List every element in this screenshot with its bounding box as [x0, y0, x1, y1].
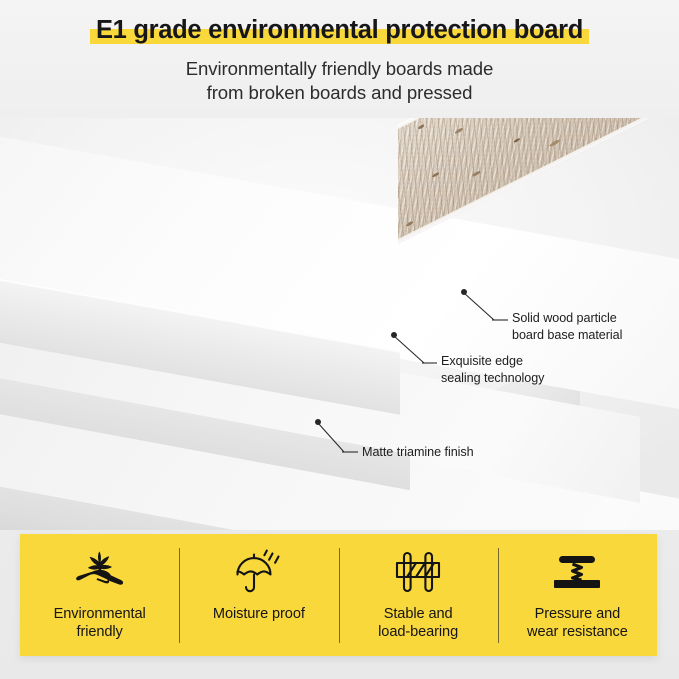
subtitle-line-2: from broken boards and pressed	[0, 81, 679, 105]
feature-label-line-1: Moisture proof	[213, 606, 305, 622]
subtitle-line-1: Environmentally friendly boards made	[186, 58, 493, 79]
feature-label-pressure-wear-resistance: Pressure and wear resistance	[527, 605, 628, 641]
product-photo: Solid wood particle board base material …	[0, 118, 679, 530]
feature-label-line-1: Pressure and	[535, 606, 621, 622]
barrier-icon	[390, 546, 446, 598]
feature-label-line-2: friendly	[54, 623, 146, 641]
feature-item-moisture-proof[interactable]: Moisture proof	[179, 534, 338, 656]
feature-label-line-1: Stable and	[384, 606, 453, 622]
feature-bar: Environmental friendly	[20, 534, 657, 656]
press-compression-icon	[549, 546, 605, 598]
feature-item-environmental-friendly[interactable]: Environmental friendly	[20, 534, 179, 656]
feature-list: Environmental friendly	[20, 534, 657, 656]
header-section: E1 grade environmental protection board …	[0, 0, 679, 118]
feature-label-environmental-friendly: Environmental friendly	[54, 605, 146, 641]
feature-label-line-2: load-bearing	[378, 623, 458, 641]
hand-plant-icon	[72, 546, 128, 598]
feature-item-pressure-wear-resistance[interactable]: Pressure and wear resistance	[498, 534, 657, 656]
title-text: E1 grade environmental protection board	[96, 16, 583, 44]
page-title: E1 grade environmental protection board	[0, 13, 679, 47]
feature-label-moisture-proof: Moisture proof	[213, 605, 305, 623]
feature-item-stable-load-bearing[interactable]: Stable and load-bearing	[339, 534, 498, 656]
infographic-page: E1 grade environmental protection board …	[0, 0, 679, 679]
feature-label-stable-load-bearing: Stable and load-bearing	[378, 605, 458, 641]
callout-leader-surface-finish	[0, 118, 679, 530]
feature-label-line-1: Environmental	[54, 606, 146, 622]
callout-surface-finish-line-1: Matte triamine finish	[362, 445, 474, 459]
callout-surface-finish: Matte triamine finish	[362, 444, 474, 461]
subtitle: Environmentally friendly boards made fro…	[0, 57, 679, 105]
feature-label-line-2: wear resistance	[527, 623, 628, 641]
umbrella-rain-icon	[231, 546, 287, 598]
